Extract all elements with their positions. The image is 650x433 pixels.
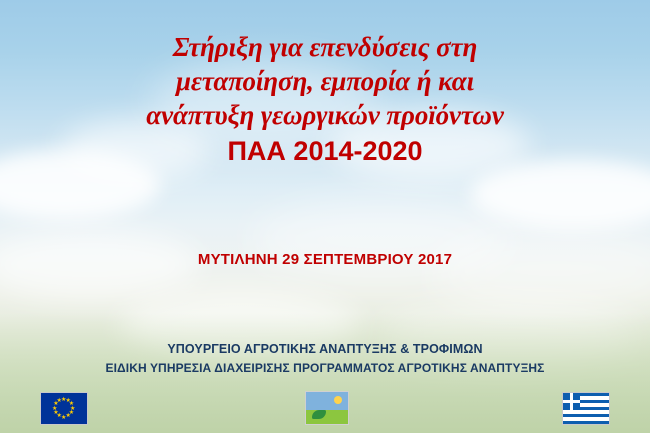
slide-subtitle: ΜΥΤΙΛΗΝΗ 29 ΣΕΠΤΕΜΒΡΙΟΥ 2017 [0, 251, 650, 268]
eu-flag-logo: ★★★★★★★★★★★★ [40, 392, 88, 425]
slide-title: Στήριξη για επενδύσεις στη μεταποίηση, ε… [0, 30, 650, 168]
greek-flag-stripe [563, 421, 609, 424]
ministry-name: ΥΠΟΥΡΓΕΙΟ ΑΓΡΟΤΙΚΗΣ ΑΝΑΠΤΥΞΗΣ & ΤΡΟΦΙΜΩΝ [0, 340, 650, 359]
greek-flag-logo [562, 392, 610, 425]
title-line-2: μεταποίηση, εμπορία ή και [0, 64, 650, 98]
managing-authority-name: ΕΙΔΙΚΗ ΥΠΗΡΕΣΙΑ ΔΙΑΧΕΙΡΙΣΗΣ ΠΡΟΓΡΑΜΜΑΤΟΣ… [0, 359, 650, 378]
rural-development-programme-logo [305, 391, 349, 425]
eu-star-icon: ★ [57, 398, 62, 404]
presentation-slide: Στήριξη για επενδύσεις στη μεταποίηση, ε… [0, 0, 650, 433]
sun-icon [334, 396, 342, 404]
title-line-1: Στήριξη για επενδύσεις στη [0, 30, 650, 64]
greek-flag-canton [563, 393, 580, 410]
programme-line: ΠΑΑ 2014-2020 [0, 134, 650, 168]
organisation-block: ΥΠΟΥΡΓΕΙΟ ΑΓΡΟΤΙΚΗΣ ΑΝΑΠΤΥΞΗΣ & ΤΡΟΦΙΜΩΝ… [0, 340, 650, 378]
title-line-3: ανάπτυξη γεωργικών προϊόντων [0, 98, 650, 132]
greek-flag-stripe [563, 414, 609, 417]
logo-bar: ★★★★★★★★★★★★ [0, 391, 650, 427]
greek-flag-cross-horizontal [563, 400, 580, 403]
